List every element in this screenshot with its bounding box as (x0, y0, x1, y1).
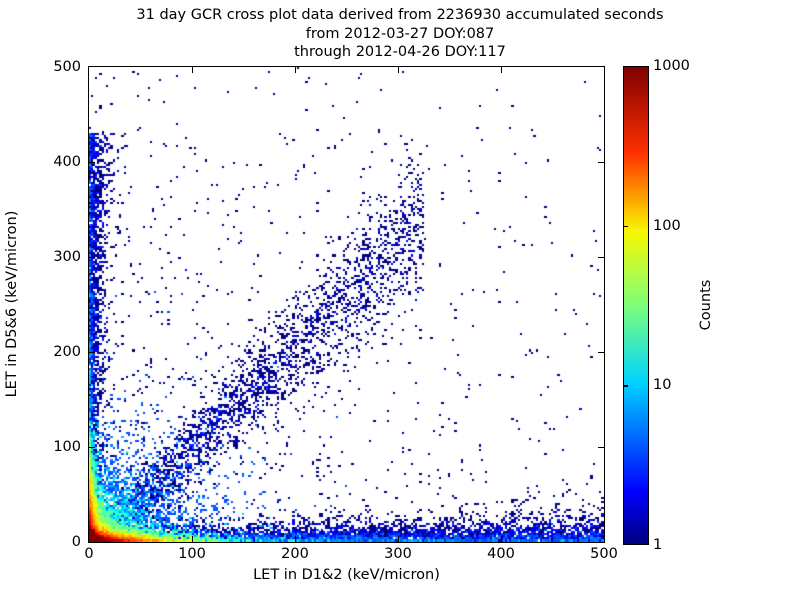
x-tick-label: 500 (590, 546, 618, 562)
colorbar (623, 66, 649, 545)
plot-area (88, 66, 605, 543)
y-tick-label: 100 (53, 439, 81, 455)
colorbar-tick-label: 100 (653, 218, 681, 234)
y-axis-tick (89, 257, 95, 258)
y-axis-tick-right (598, 162, 604, 163)
y-axis-tick-right (598, 257, 604, 258)
x-tick-label: 400 (487, 546, 515, 562)
x-tick-label: 200 (281, 546, 309, 562)
colorbar-tick (623, 226, 628, 227)
y-axis-tick (89, 447, 95, 448)
y-tick-label: 500 (53, 59, 81, 75)
y-axis-tick (89, 352, 95, 353)
x-tick-label: 300 (384, 546, 412, 562)
colorbar-tick (623, 385, 628, 386)
x-axis-tick (398, 536, 399, 542)
y-tick-label: 300 (53, 249, 81, 265)
colorbar-tick-label: 1 (653, 537, 662, 553)
colorbar-title: Counts (698, 280, 714, 331)
colorbar-tick-label: 1000 (653, 58, 690, 74)
colorbar-tick-label: 10 (653, 377, 671, 393)
y-axis-tick-right (598, 447, 604, 448)
density-scatter-canvas (89, 67, 604, 542)
page-title: 31 day GCR cross plot data derived from … (0, 6, 800, 62)
title-line-2: from 2012-03-27 DOY:087 (0, 25, 800, 44)
y-tick-label: 400 (53, 154, 81, 170)
x-axis-tick (295, 536, 296, 542)
scatter-plot-figure: 31 day GCR cross plot data derived from … (0, 0, 800, 600)
y-axis-label: LET in D5&6 (keV/micron) (4, 211, 20, 398)
y-tick-label: 0 (72, 534, 81, 550)
y-tick-label: 200 (53, 344, 81, 360)
x-axis-label: LET in D1&2 (keV/micron) (88, 567, 605, 583)
x-axis-tick-top (295, 67, 296, 73)
colorbar-gradient (623, 66, 649, 545)
x-tick-label: 100 (178, 546, 206, 562)
y-axis-tick-right (598, 352, 604, 353)
title-line-1: 31 day GCR cross plot data derived from … (0, 6, 800, 25)
x-axis-tick (501, 536, 502, 542)
x-tick-label: 0 (84, 546, 93, 562)
y-axis-tick (89, 162, 95, 163)
x-axis-tick-top (398, 67, 399, 73)
x-axis-tick (192, 536, 193, 542)
x-axis-tick-top (501, 67, 502, 73)
x-axis-tick-top (192, 67, 193, 73)
